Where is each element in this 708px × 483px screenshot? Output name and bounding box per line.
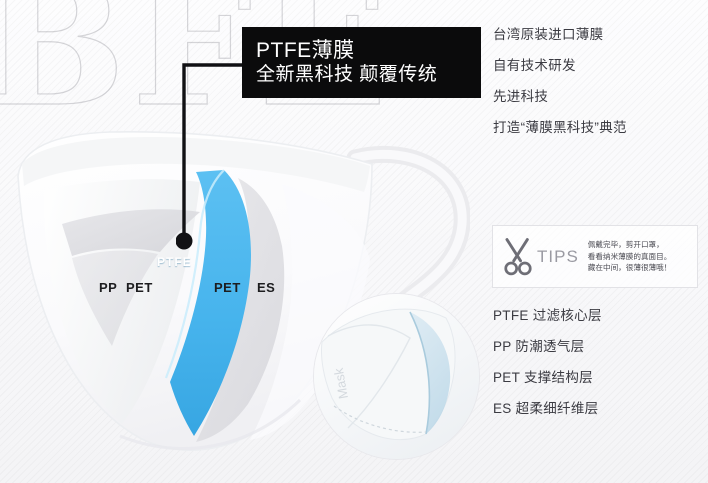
tips-label: TIPS bbox=[537, 247, 579, 267]
tips-line: 佩戴完毕，剪开口罩， bbox=[588, 239, 672, 251]
mask-label-ptfe: PTFE bbox=[157, 255, 192, 269]
tips-text: 佩戴完毕，剪开口罩， 看看纳米薄膜的真面目。 藏在中间，很薄很薄哦！ bbox=[588, 239, 672, 274]
banner-line-1: PTFE薄膜 bbox=[256, 38, 481, 63]
legend-row: PTFE 过滤核心层 bbox=[493, 307, 703, 324]
feature-item: 台湾原装进口薄膜 bbox=[493, 26, 703, 43]
feature-item: 自有技术研发 bbox=[493, 57, 703, 74]
legend-row: PET 支撑结构层 bbox=[493, 369, 703, 386]
mask-label-pet-left: PET bbox=[126, 280, 153, 295]
mask-photo-vector: Mask bbox=[314, 294, 479, 459]
ptfe-banner: PTFE薄膜 全新黑科技 颠覆传统 bbox=[242, 27, 481, 98]
feature-item: 打造“薄膜黑科技”典范 bbox=[493, 119, 703, 136]
mask-photo-inset: Mask bbox=[313, 293, 480, 460]
mask-label-pet-right: PET bbox=[214, 280, 241, 295]
tips-line: 看看纳米薄膜的真面目。 bbox=[588, 251, 672, 263]
feature-item: 先进科技 bbox=[493, 88, 703, 105]
tips-box: TIPS 佩戴完毕，剪开口罩， 看看纳米薄膜的真面目。 藏在中间，很薄很薄哦！ bbox=[492, 225, 698, 288]
mask-label-pp: PP bbox=[99, 280, 117, 295]
banner-line-2: 全新黑科技 颠覆传统 bbox=[256, 63, 481, 87]
feature-list: 台湾原装进口薄膜 自有技术研发 先进科技 打造“薄膜黑科技”典范 bbox=[493, 26, 703, 150]
legend-row: PP 防潮透气层 bbox=[493, 338, 703, 355]
tips-line: 藏在中间，很薄很薄哦！ bbox=[588, 262, 672, 274]
mask-label-es: ES bbox=[257, 280, 275, 295]
scissors-icon bbox=[501, 237, 535, 276]
legend-row: ES 超柔细纤维层 bbox=[493, 400, 703, 417]
infographic-canvas: BFE bbox=[0, 0, 708, 483]
layer-legend: PTFE 过滤核心层 PP 防潮透气层 PET 支撑结构层 ES 超柔细纤维层 bbox=[493, 307, 703, 431]
